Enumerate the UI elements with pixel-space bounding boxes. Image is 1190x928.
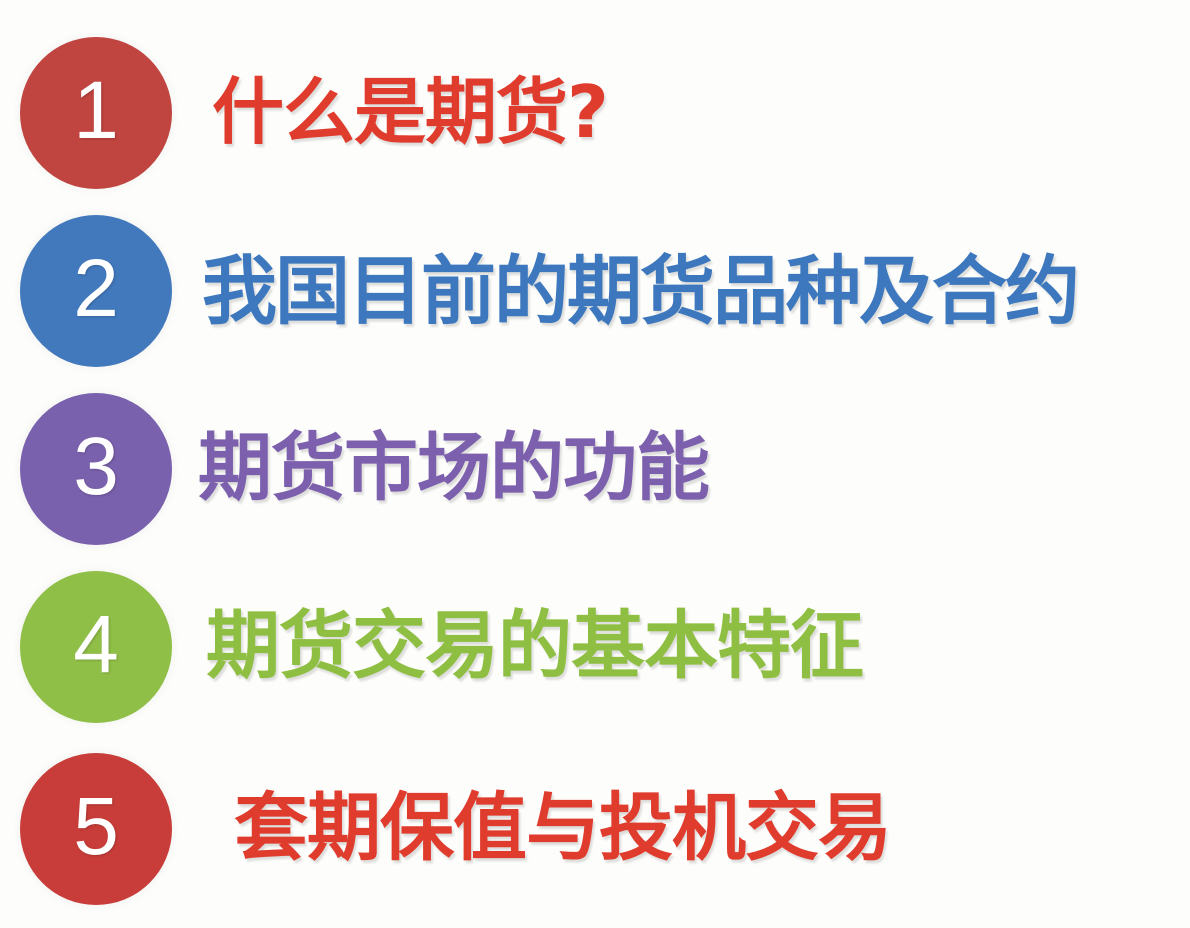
number-badge-3: 3 bbox=[20, 393, 172, 545]
badge-number-5: 5 bbox=[73, 786, 119, 868]
badge-number-1: 1 bbox=[73, 70, 119, 152]
number-badge-1: 1 bbox=[20, 37, 172, 189]
badge-number-4: 4 bbox=[73, 604, 119, 686]
agenda-item-2[interactable]: 2 我国目前的期货品种及合约 bbox=[0, 202, 1190, 380]
badge-number-2: 2 bbox=[73, 248, 119, 330]
agenda-item-1[interactable]: 1 什么是期货? bbox=[0, 24, 1190, 202]
agenda-item-4[interactable]: 4 期货交易的基本特征 bbox=[0, 558, 1190, 736]
agenda-item-title-1: 什么是期货? bbox=[212, 75, 608, 151]
agenda-item-5[interactable]: 5 套期保值与投机交易 bbox=[0, 740, 1190, 918]
number-badge-2: 2 bbox=[20, 215, 172, 367]
agenda-item-3[interactable]: 3 期货市场的功能 bbox=[0, 380, 1190, 558]
agenda-item-title-2: 我国目前的期货品种及合约 bbox=[202, 252, 1078, 331]
agenda-list: 1 什么是期货? 2 我国目前的期货品种及合约 3 期货市场的功能 4 期货交易… bbox=[0, 0, 1190, 928]
agenda-slide: 1 什么是期货? 2 我国目前的期货品种及合约 3 期货市场的功能 4 期货交易… bbox=[0, 0, 1190, 928]
number-badge-4: 4 bbox=[20, 571, 172, 723]
agenda-item-title-3: 期货市场的功能 bbox=[198, 430, 709, 508]
badge-number-3: 3 bbox=[73, 426, 119, 508]
agenda-item-title-4: 期货交易的基本特征 bbox=[206, 608, 863, 686]
agenda-item-title-5: 套期保值与投机交易 bbox=[234, 790, 891, 868]
number-badge-5: 5 bbox=[20, 753, 172, 905]
